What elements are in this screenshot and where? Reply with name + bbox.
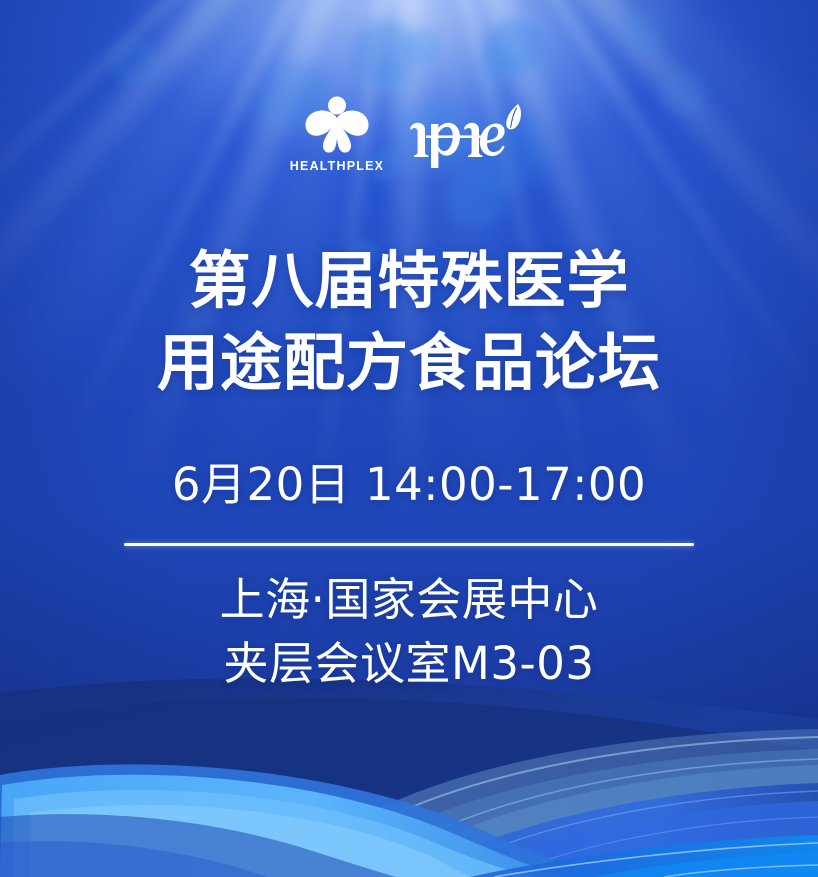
poster-content: HEALTHPLEX bbox=[0, 0, 818, 877]
event-poster: HEALTHPLEX bbox=[0, 0, 818, 877]
venue-line-1: 上海·国家会展中心 bbox=[220, 568, 599, 632]
section-divider bbox=[124, 543, 694, 546]
healthplex-logo: HEALTHPLEX bbox=[290, 96, 384, 173]
healthplex-butterfly-mark bbox=[301, 96, 373, 154]
title-line-2: 用途配方食品论坛 bbox=[157, 322, 661, 404]
event-venue: 上海·国家会展中心 夹层会议室M3-03 bbox=[220, 568, 599, 696]
title-line-1: 第八届特殊医学 bbox=[157, 240, 661, 322]
event-title: 第八届特殊医学 用途配方食品论坛 bbox=[157, 240, 661, 404]
npe-leaf-logotype bbox=[406, 98, 528, 170]
event-datetime: 6月20日 14:00-17:00 bbox=[172, 448, 646, 513]
venue-line-2: 夹层会议室M3-03 bbox=[220, 632, 599, 696]
logo-row: HEALTHPLEX bbox=[290, 96, 528, 182]
healthplex-wordmark: HEALTHPLEX bbox=[290, 160, 384, 173]
npe-logo bbox=[406, 98, 528, 170]
